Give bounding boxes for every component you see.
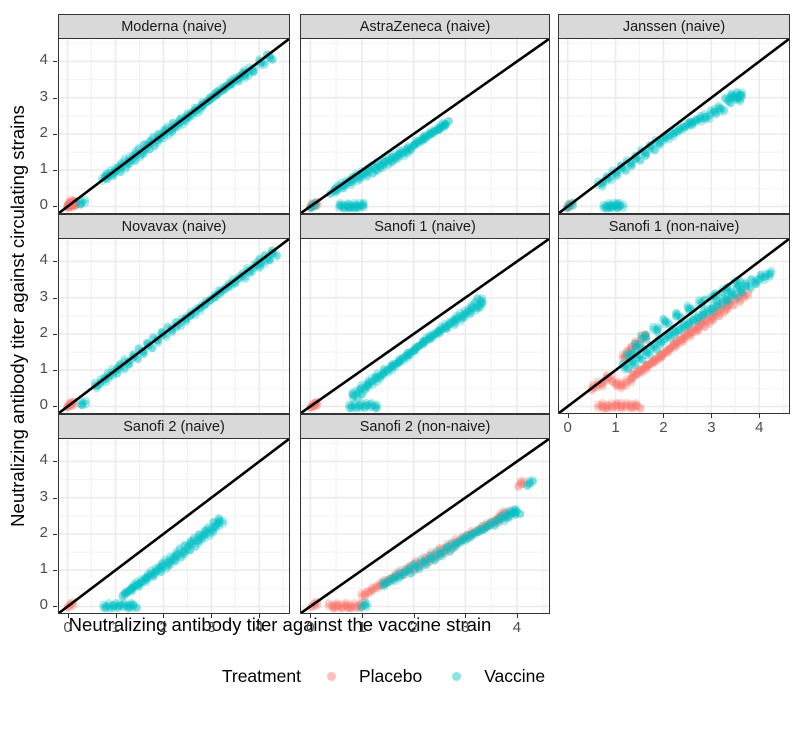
y-tick-mark [53,498,57,499]
x-tick-label: 1 [351,623,373,633]
facet-strip-label: Sanofi 2 (naive) [58,414,290,439]
y-tick-label: 3 [22,92,48,102]
x-tick-mark [259,614,260,618]
facet-panel-novavax-naive: Novavax (naive) [58,214,290,414]
facet-plot-area [58,439,290,614]
facet-panel-moderna-naive: Moderna (naive) [58,14,290,214]
x-tick-mark [68,614,69,618]
facet-strip-label: Sanofi 1 (non-naive) [558,214,790,239]
facet-strip-label: Moderna (naive) [58,14,290,39]
facet-panel-sanofi-2-naive: Sanofi 2 (naive) [58,414,290,614]
y-tick-mark [53,406,57,407]
y-tick-label: 1 [22,364,48,374]
chart-root: Neutralizing antibody titer against circ… [0,0,797,729]
series-vaccine [77,246,281,409]
x-tick-label: 3 [454,623,476,633]
x-tick-mark [616,414,617,418]
x-tick-label: 4 [248,623,270,633]
x-tick-mark [711,414,712,418]
facet-plot-area [300,439,550,614]
y-tick-mark [53,98,57,99]
x-tick-label: 0 [299,623,321,633]
facet-plot-area [558,239,790,414]
legend-label-placebo: Placebo [359,666,422,687]
x-tick-mark [362,614,363,618]
x-tick-mark [310,614,311,618]
facet-plot-area [300,239,550,414]
y-tick-mark [53,570,57,571]
y-tick-mark [53,134,57,135]
facet-strip-label: Novavax (naive) [58,214,290,239]
x-tick-label: 1 [605,423,627,433]
x-tick-mark [163,614,164,618]
y-tick-mark [53,261,57,262]
x-tick-mark [759,414,760,418]
x-tick-label: 2 [152,623,174,633]
facet-panel-janssen-naive: Janssen (naive) [558,14,790,214]
y-tick-label: 2 [22,128,48,138]
facet-strip-label: Janssen (naive) [558,14,790,39]
x-tick-mark [116,614,117,618]
facet-plot-area [58,239,290,414]
x-tick-label: 0 [557,423,579,433]
x-tick-label: 4 [506,623,528,633]
x-tick-label: 3 [700,423,722,433]
facet-plot-area [558,39,790,214]
y-tick-label: 2 [22,328,48,338]
legend-title: Treatment [222,666,301,687]
y-tick-label: 0 [22,600,48,610]
y-tick-label: 3 [22,492,48,502]
series-vaccine [563,88,746,213]
y-tick-mark [53,606,57,607]
x-tick-mark [568,414,569,418]
y-tick-mark [53,206,57,207]
y-tick-label: 0 [22,200,48,210]
legend-dot-placebo [327,672,336,681]
x-tick-label: 1 [105,623,127,633]
facet-plot-area [300,39,550,214]
facet-strip-label: Sanofi 2 (non-naive) [300,414,550,439]
x-tick-mark [465,614,466,618]
facet-panel-sanofi-1-naive: Sanofi 1 (naive) [300,214,550,414]
y-tick-mark [53,370,57,371]
legend-key-placebo[interactable]: Placebo [327,666,452,687]
y-tick-mark [53,61,57,62]
facet-strip-label: Sanofi 1 (naive) [300,214,550,239]
facet-panel-astrazeneca-naive: AstraZeneca (naive) [300,14,550,214]
series-vaccine [618,267,775,374]
facet-panel-sanofi-1-non-naive: Sanofi 1 (non-naive) [558,214,790,414]
x-tick-mark [414,614,415,618]
x-tick-mark [663,414,664,418]
y-tick-mark [53,534,57,535]
y-tick-label: 4 [22,455,48,465]
series-vaccine [76,50,277,209]
x-tick-label: 0 [57,623,79,633]
facet-plot-area [58,39,290,214]
y-tick-label: 3 [22,292,48,302]
x-tick-label: 2 [403,623,425,633]
x-tick-mark [211,614,212,618]
legend: Treatment Placebo Vaccine [0,666,797,687]
series-vaccine [306,117,453,213]
series-vaccine [357,476,537,612]
legend-dot-vaccine [452,672,461,681]
y-tick-label: 2 [22,528,48,538]
facet-strip-label: AstraZeneca (naive) [300,14,550,39]
y-tick-label: 1 [22,164,48,174]
y-tick-label: 1 [22,564,48,574]
y-tick-label: 4 [22,55,48,65]
x-tick-label: 2 [652,423,674,433]
x-tick-mark [517,614,518,618]
legend-key-vaccine[interactable]: Vaccine [452,666,575,687]
y-tick-label: 4 [22,255,48,265]
y-tick-mark [53,334,57,335]
facet-panel-sanofi-2-non-naive: Sanofi 2 (non-naive) [300,414,550,614]
y-tick-label: 0 [22,400,48,410]
y-tick-mark [53,461,57,462]
x-tick-label: 4 [748,423,770,433]
x-tick-label: 3 [200,623,222,633]
legend-label-vaccine: Vaccine [484,666,545,687]
series-placebo [588,288,752,412]
y-tick-mark [53,170,57,171]
y-tick-mark [53,298,57,299]
